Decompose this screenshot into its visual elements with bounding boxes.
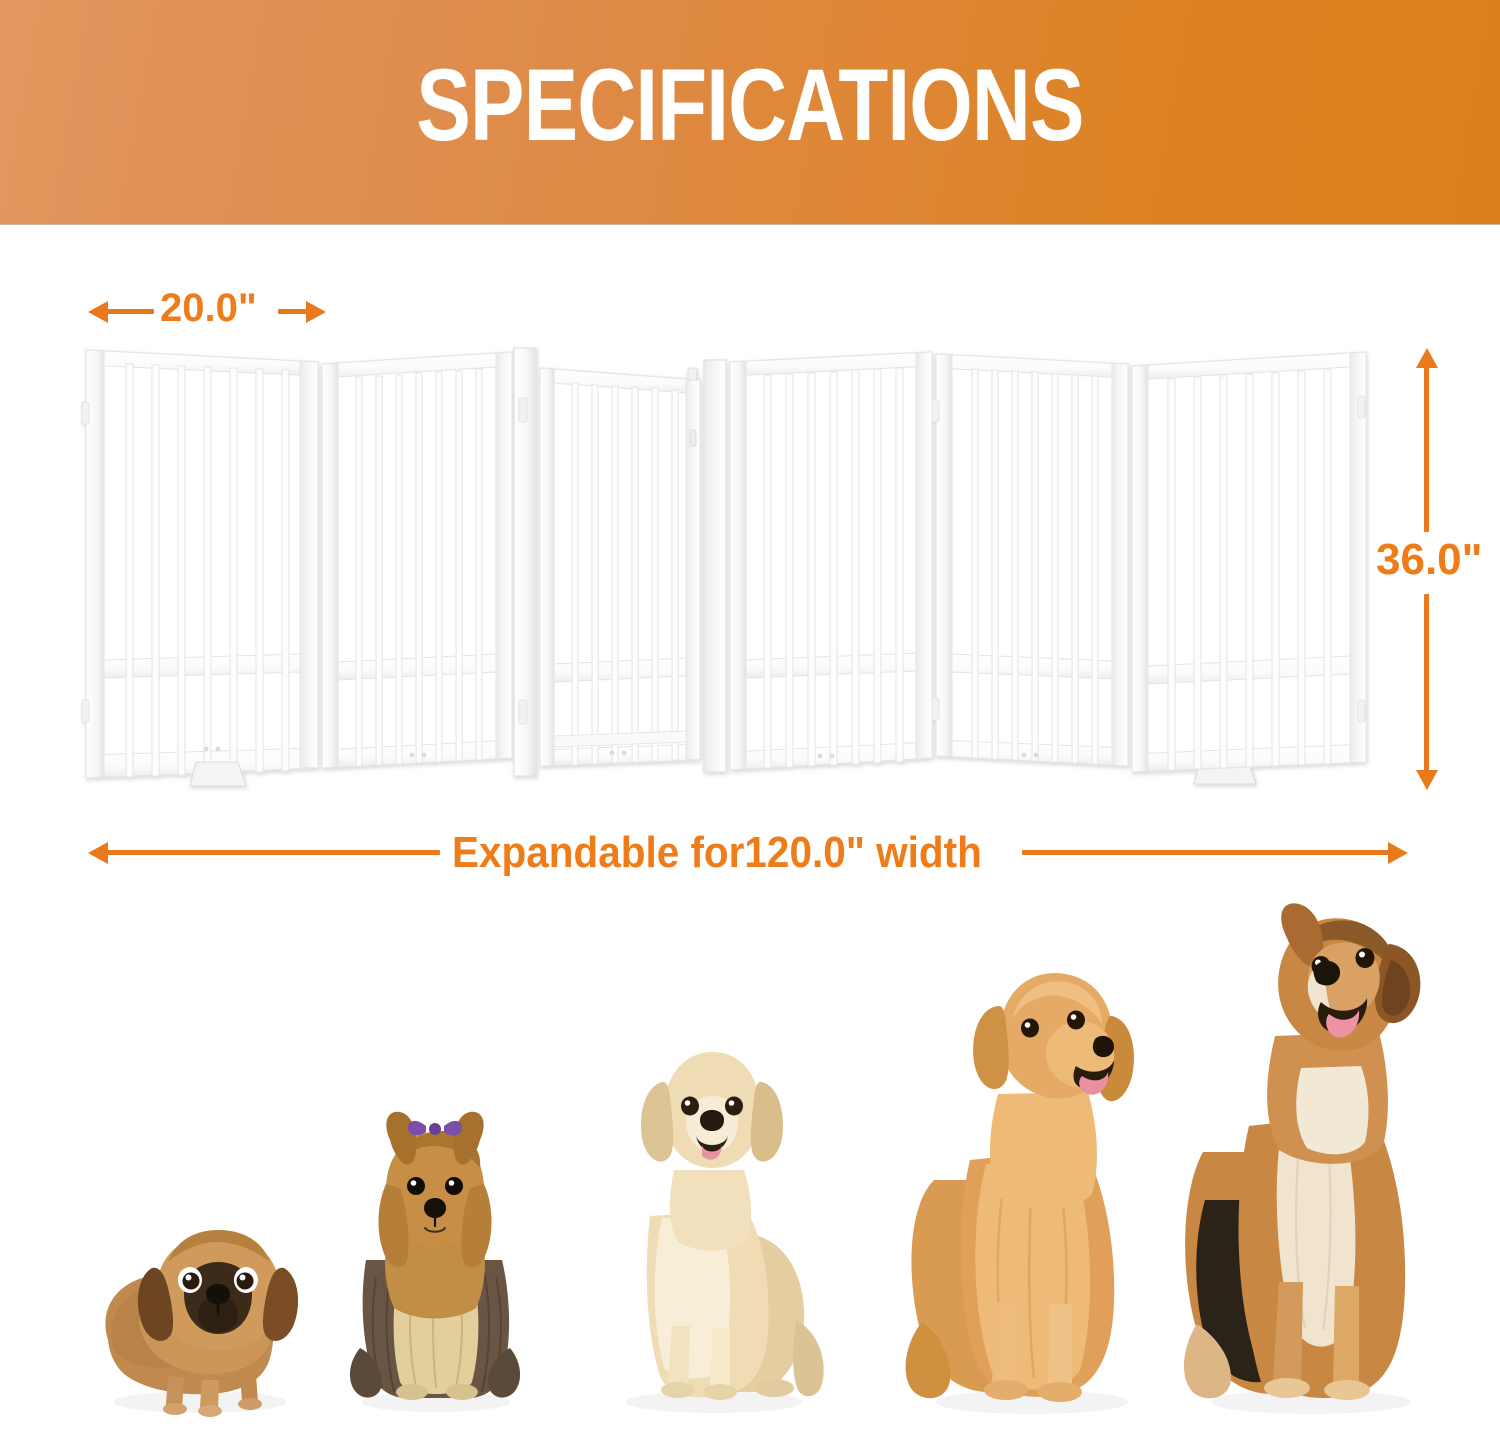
header-banner: SPECIFICATIONS xyxy=(0,0,1500,224)
expandable-width-label: Expandable for120.0" width xyxy=(452,831,982,875)
arrow-right-icon xyxy=(1388,842,1408,864)
gate-panel-6 xyxy=(1132,352,1366,772)
gate-panel-1 xyxy=(82,350,318,786)
expand-dim-line-right xyxy=(1022,850,1390,855)
height-dim-line-bottom xyxy=(1424,594,1429,772)
arrow-down-icon xyxy=(1416,770,1438,790)
dog-pekingese-puppy xyxy=(72,1190,322,1420)
dog-shepherd-mix xyxy=(1175,900,1445,1420)
height-dim-line-top xyxy=(1424,366,1429,532)
gate-panel-2 xyxy=(322,352,512,768)
dog-labrador-puppy xyxy=(590,1020,840,1420)
gate-panel-3-walkthrough-door xyxy=(514,348,726,776)
page-title: SPECIFICATIONS xyxy=(150,50,1350,160)
dog-size-comparison-row xyxy=(0,900,1500,1442)
arrow-right-icon xyxy=(306,301,326,323)
gate-panel-5 xyxy=(932,354,1256,784)
width-dim-line-right xyxy=(278,309,308,314)
dog-golden-retriever xyxy=(900,950,1160,1420)
gate-height-label: 36.0" xyxy=(1376,538,1483,582)
expand-dim-line-left xyxy=(106,850,440,855)
panel-width-label: 20.0" xyxy=(160,288,257,328)
arrow-left-icon xyxy=(88,842,108,864)
dog-yorkshire-terrier xyxy=(320,1110,550,1420)
width-dim-line-left xyxy=(106,309,154,314)
gate-panel-4 xyxy=(730,352,932,770)
arrow-up-icon xyxy=(1416,348,1438,368)
arrow-left-icon xyxy=(88,301,108,323)
hair-bow xyxy=(408,1121,462,1136)
